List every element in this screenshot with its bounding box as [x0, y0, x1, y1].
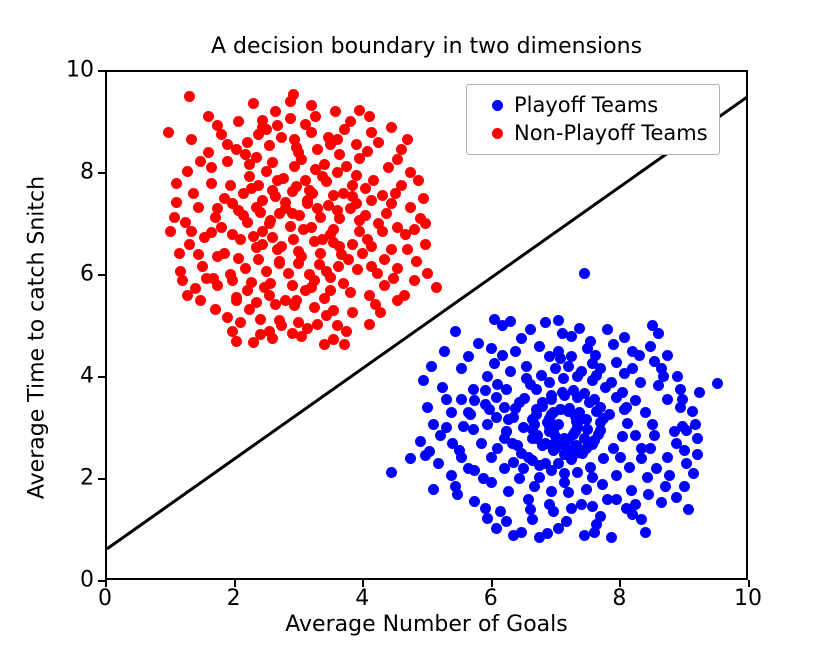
- scatter-point: [712, 378, 723, 389]
- scatter-point: [362, 234, 373, 245]
- scatter-point: [360, 183, 371, 194]
- scatter-point: [527, 514, 538, 525]
- scatter-point: [420, 218, 431, 229]
- scatter-point: [548, 506, 559, 517]
- scatter-point: [347, 239, 358, 250]
- scatter-point: [501, 516, 512, 527]
- scatter-point: [540, 317, 551, 328]
- scatter-point: [373, 137, 384, 148]
- scatter-point: [392, 154, 403, 165]
- scatter-point: [589, 394, 600, 405]
- scatter-point: [333, 261, 344, 272]
- y-tick-label: 0: [58, 568, 94, 593]
- scatter-point: [576, 499, 587, 510]
- scatter-point: [231, 336, 242, 347]
- scatter-point: [510, 346, 521, 357]
- scatter-point: [195, 295, 206, 306]
- scatter-point: [553, 523, 564, 534]
- scatter-point: [296, 331, 307, 342]
- scatter-point: [602, 324, 613, 335]
- scatter-point: [454, 445, 465, 456]
- scatter-point: [366, 127, 377, 138]
- y-tick-mark: [98, 478, 105, 480]
- scatter-point: [576, 366, 587, 377]
- scatter-point: [312, 144, 323, 155]
- scatter-point: [486, 343, 497, 354]
- scatter-point: [489, 358, 500, 369]
- scatter-point: [315, 248, 326, 259]
- scatter-point: [692, 449, 703, 460]
- scatter-point: [298, 224, 309, 235]
- scatter-point: [377, 226, 388, 237]
- scatter-point: [203, 147, 214, 158]
- scatter-point: [431, 282, 442, 293]
- scatter-point: [489, 314, 500, 325]
- scatter-point: [604, 409, 615, 420]
- scatter-point: [611, 470, 622, 481]
- scatter-point: [257, 239, 268, 250]
- scatter-point: [362, 146, 373, 157]
- scatter-point: [476, 438, 487, 449]
- legend-marker-non-playoff-icon: [492, 128, 503, 139]
- scatter-point: [450, 326, 461, 337]
- scatter-point: [482, 419, 493, 430]
- scatter-point: [656, 497, 667, 508]
- scatter-point: [174, 248, 185, 259]
- scatter-point: [587, 472, 598, 483]
- scatter-point: [694, 387, 705, 398]
- scatter-point: [334, 149, 345, 160]
- page-title: A decision boundary in two dimensions: [105, 34, 748, 59]
- scatter-point: [563, 487, 574, 498]
- scatter-point: [354, 105, 365, 116]
- scatter-point: [184, 91, 195, 102]
- scatter-point: [274, 258, 285, 269]
- scatter-point: [566, 331, 577, 342]
- scatter-point: [171, 197, 182, 208]
- scatter-point: [296, 251, 307, 262]
- scatter-point: [222, 312, 233, 323]
- scatter-point: [195, 156, 206, 167]
- scatter-point: [351, 198, 362, 209]
- scatter-point: [347, 307, 358, 318]
- scatter-point: [617, 387, 628, 398]
- scatter-point: [553, 315, 564, 326]
- scatter-point: [662, 394, 673, 405]
- scatter-point: [285, 113, 296, 124]
- scatter-point: [525, 324, 536, 335]
- scatter-point: [636, 514, 647, 525]
- scatter-point: [608, 339, 619, 350]
- scatter-point: [635, 377, 646, 388]
- scatter-point: [360, 210, 371, 221]
- scatter-point: [463, 407, 474, 418]
- scatter-point: [664, 470, 675, 481]
- x-axis-label: Average Number of Goals: [105, 612, 748, 637]
- scatter-point: [672, 371, 683, 382]
- scatter-point: [426, 361, 437, 372]
- scatter-point: [377, 190, 388, 201]
- scatter-point: [304, 185, 315, 196]
- scatter-point: [347, 180, 358, 191]
- scatter-point: [171, 178, 182, 189]
- scatter-point: [630, 430, 641, 441]
- y-tick-label: 10: [58, 58, 94, 83]
- scatter-point: [261, 266, 272, 277]
- scatter-point: [413, 175, 424, 186]
- scatter-point: [480, 385, 491, 396]
- scatter-point: [468, 384, 479, 395]
- x-tick-label: 2: [227, 586, 241, 611]
- y-tick-label: 6: [58, 262, 94, 287]
- scatter-point: [392, 295, 403, 306]
- scatter-point: [469, 395, 480, 406]
- scatter-point: [508, 412, 519, 423]
- scatter-point: [197, 261, 208, 272]
- scatter-point: [606, 532, 617, 543]
- scatter-point: [563, 361, 574, 372]
- scatter-point: [251, 202, 262, 213]
- scatter-point: [317, 171, 328, 182]
- scatter-point: [287, 208, 298, 219]
- scatter-point: [658, 371, 669, 382]
- scatter-point: [505, 366, 516, 377]
- scatter-point: [219, 248, 230, 259]
- y-tick-label: 4: [58, 364, 94, 389]
- scatter-point: [645, 341, 656, 352]
- scatter-point: [642, 472, 653, 483]
- scatter-point: [688, 468, 699, 479]
- scatter-point: [418, 375, 429, 386]
- scatter-point: [206, 162, 217, 173]
- scatter-point: [525, 504, 536, 515]
- scatter-point: [306, 127, 317, 138]
- scatter-point: [480, 503, 491, 514]
- scatter-point: [437, 382, 448, 393]
- scatter-point: [497, 350, 508, 361]
- scatter-point: [177, 275, 188, 286]
- scatter-point: [341, 161, 352, 172]
- scatter-point: [441, 394, 452, 405]
- scatter-point: [206, 178, 217, 189]
- scatter-point: [643, 489, 654, 500]
- scatter-point: [619, 332, 630, 343]
- scatter-point: [285, 221, 296, 232]
- scatter-point: [381, 208, 392, 219]
- scatter-point: [368, 175, 379, 186]
- legend-label: Non-Playoff Teams: [514, 121, 708, 145]
- scatter-point: [597, 479, 608, 490]
- scatter-point: [210, 212, 221, 223]
- scatter-point: [351, 139, 362, 150]
- scatter-point: [354, 226, 365, 237]
- x-tick-label: 8: [612, 586, 626, 611]
- scatter-point: [446, 407, 457, 418]
- scatter-point: [514, 473, 525, 484]
- scatter-point: [321, 310, 332, 321]
- scatter-point: [415, 436, 426, 447]
- scatter-point: [339, 339, 350, 350]
- scatter-point: [366, 195, 377, 206]
- scatter-point: [199, 232, 210, 243]
- scatter-point: [285, 96, 296, 107]
- scatter-point: [660, 481, 671, 492]
- scatter-point: [390, 188, 401, 199]
- scatter-point: [503, 486, 514, 497]
- legend-item[interactable]: Non-Playoff Teams: [478, 119, 708, 147]
- y-tick-label: 8: [58, 160, 94, 185]
- scatter-point: [184, 239, 195, 250]
- scatter-point: [210, 304, 221, 315]
- scatter-point: [225, 180, 236, 191]
- scatter-point: [240, 263, 251, 274]
- scatter-point: [420, 239, 431, 250]
- scatter-point: [649, 430, 660, 441]
- scatter-point: [439, 346, 450, 357]
- scatter-point: [272, 120, 283, 131]
- scatter-point: [521, 361, 532, 372]
- scatter-point: [186, 134, 197, 145]
- scatter-point: [534, 532, 545, 543]
- scatter-point: [248, 98, 259, 109]
- scatter-point: [418, 193, 429, 204]
- scatter-point: [261, 166, 272, 177]
- scatter-point: [400, 229, 411, 240]
- scatter-point: [257, 226, 268, 237]
- legend-marker-playoff-icon: [492, 100, 503, 111]
- scatter-point: [499, 433, 510, 444]
- figure-canvas: A decision boundary in two dimensions Av…: [0, 0, 830, 653]
- scatter-point: [456, 363, 467, 374]
- scatter-point: [287, 280, 298, 291]
- scatter-point: [364, 111, 375, 122]
- scatter-point: [238, 188, 249, 199]
- scatter-point: [491, 392, 502, 403]
- scatter-point: [624, 462, 635, 473]
- scatter-point: [203, 111, 214, 122]
- scatter-point: [435, 430, 446, 441]
- scatter-point: [499, 402, 510, 413]
- scatter-point: [473, 338, 484, 349]
- legend-label: Playoff Teams: [514, 93, 658, 117]
- scatter-point: [516, 333, 527, 344]
- scatter-point: [468, 424, 479, 435]
- scatter-point: [255, 314, 266, 325]
- scatter-point: [675, 384, 686, 395]
- scatter-point: [402, 134, 413, 145]
- scatter-point: [579, 268, 590, 279]
- scatter-point: [343, 254, 354, 265]
- scatter-point: [341, 326, 352, 337]
- scatter-point: [276, 241, 287, 252]
- scatter-point: [482, 513, 493, 524]
- scatter-point: [568, 385, 579, 396]
- x-tick-label: 10: [734, 586, 762, 611]
- scatter-point: [330, 106, 341, 117]
- y-tick-mark: [98, 172, 105, 174]
- scatter-point: [687, 406, 698, 417]
- scatter-point: [276, 320, 287, 331]
- scatter-point: [636, 453, 647, 464]
- scatter-point: [276, 132, 287, 143]
- scatter-point: [595, 425, 606, 436]
- scatter-point: [244, 304, 255, 315]
- scatter-point: [690, 419, 701, 430]
- legend: Playoff Teams Non-Playoff Teams: [466, 84, 720, 155]
- scatter-point: [188, 188, 199, 199]
- scatter-point: [388, 273, 399, 284]
- scatter-point: [591, 519, 602, 530]
- scatter-point: [662, 452, 673, 463]
- scatter-point: [364, 319, 375, 330]
- scatter-point: [405, 202, 416, 213]
- x-tick-label: 0: [98, 586, 112, 611]
- scatter-point: [255, 329, 266, 340]
- scatter-point: [615, 452, 626, 463]
- scatter-point: [352, 264, 363, 275]
- scatter-point: [345, 287, 356, 298]
- scatter-point: [521, 373, 532, 384]
- scatter-point: [683, 504, 694, 515]
- scatter-point: [546, 486, 557, 497]
- scatter-point: [570, 448, 581, 459]
- scatter-point: [233, 116, 244, 127]
- scatter-point: [491, 523, 502, 534]
- scatter-point: [379, 254, 390, 265]
- scatter-point: [402, 244, 413, 255]
- scatter-point: [338, 188, 349, 199]
- scatter-point: [386, 467, 397, 478]
- scatter-point: [581, 484, 592, 495]
- legend-item[interactable]: Playoff Teams: [478, 91, 708, 119]
- scatter-point: [309, 275, 320, 286]
- scatter-point: [306, 100, 317, 111]
- scatter-point: [492, 443, 503, 454]
- scatter-point: [309, 302, 320, 313]
- scatter-point: [235, 317, 246, 328]
- scatter-point: [558, 373, 569, 384]
- scatter-point: [386, 122, 397, 133]
- scatter-point: [235, 234, 246, 245]
- scatter-point: [621, 402, 632, 413]
- scatter-point: [428, 484, 439, 495]
- scatter-point: [433, 458, 444, 469]
- x-tick-label: 4: [355, 586, 369, 611]
- scatter-point: [550, 363, 561, 374]
- scatter-point: [291, 181, 302, 192]
- scatter-point: [598, 453, 609, 464]
- scatter-point: [534, 341, 545, 352]
- scatter-point: [514, 397, 525, 408]
- scatter-point: [317, 234, 328, 245]
- scatter-point: [611, 357, 622, 368]
- scatter-point: [587, 501, 598, 512]
- scatter-point: [579, 530, 590, 541]
- scatter-point: [244, 171, 255, 182]
- scatter-point: [544, 351, 555, 362]
- scatter-point: [452, 489, 463, 500]
- scatter-point: [534, 472, 545, 483]
- scatter-point: [272, 175, 283, 186]
- scatter-point: [264, 290, 275, 301]
- scatter-point: [508, 530, 519, 541]
- scatter-point: [264, 140, 275, 151]
- scatter-point: [671, 492, 682, 503]
- scatter-point: [291, 295, 302, 306]
- scatter-point: [446, 470, 457, 481]
- scatter-point: [288, 234, 299, 245]
- scatter-point: [456, 394, 467, 405]
- scatter-point: [536, 370, 547, 381]
- scatter-point: [163, 127, 174, 138]
- scatter-point: [553, 419, 564, 430]
- scatter-point: [267, 333, 278, 344]
- scatter-point: [469, 496, 480, 507]
- scatter-point: [409, 275, 420, 286]
- scatter-point: [640, 527, 651, 538]
- scatter-point: [182, 290, 193, 301]
- scatter-point: [405, 453, 416, 464]
- scatter-point: [300, 285, 311, 296]
- scatter-point: [692, 433, 703, 444]
- scatter-point: [375, 307, 386, 318]
- scatter-point: [242, 285, 253, 296]
- scatter-point: [227, 326, 238, 337]
- scatter-point: [677, 394, 688, 405]
- scatter-point: [289, 134, 300, 145]
- y-tick-mark: [98, 580, 105, 582]
- scatter-point: [345, 116, 356, 127]
- scatter-point: [647, 419, 658, 430]
- scatter-point: [582, 424, 593, 435]
- scatter-point: [557, 387, 568, 398]
- scatter-point: [679, 481, 690, 492]
- y-tick-mark: [98, 274, 105, 276]
- scatter-point: [319, 293, 330, 304]
- scatter-point: [627, 363, 638, 374]
- scatter-point: [428, 419, 439, 430]
- scatter-point: [265, 215, 276, 226]
- y-tick-label: 2: [58, 466, 94, 491]
- scatter-point: [242, 137, 253, 148]
- scatter-point: [283, 268, 294, 279]
- scatter-point: [351, 170, 362, 181]
- scatter-point: [357, 248, 368, 259]
- scatter-point: [579, 388, 590, 399]
- scatter-point: [312, 319, 323, 330]
- scatter-point: [626, 485, 637, 496]
- scatter-point: [463, 351, 474, 362]
- scatter-point: [261, 124, 272, 135]
- scatter-point: [325, 139, 336, 150]
- scatter-point: [617, 431, 628, 442]
- scatter-point: [422, 402, 433, 413]
- y-tick-mark: [98, 376, 105, 378]
- scatter-point: [233, 253, 244, 264]
- scatter-point: [411, 256, 422, 267]
- scatter-point: [640, 407, 651, 418]
- scatter-point: [662, 350, 673, 361]
- scatter-point: [216, 222, 227, 233]
- y-tick-mark: [98, 70, 105, 72]
- scatter-point: [501, 384, 512, 395]
- scatter-point: [253, 180, 264, 191]
- scatter-point: [386, 244, 397, 255]
- scatter-point: [572, 467, 583, 478]
- scatter-point: [679, 445, 690, 456]
- scatter-point: [319, 159, 330, 170]
- scatter-point: [328, 334, 339, 345]
